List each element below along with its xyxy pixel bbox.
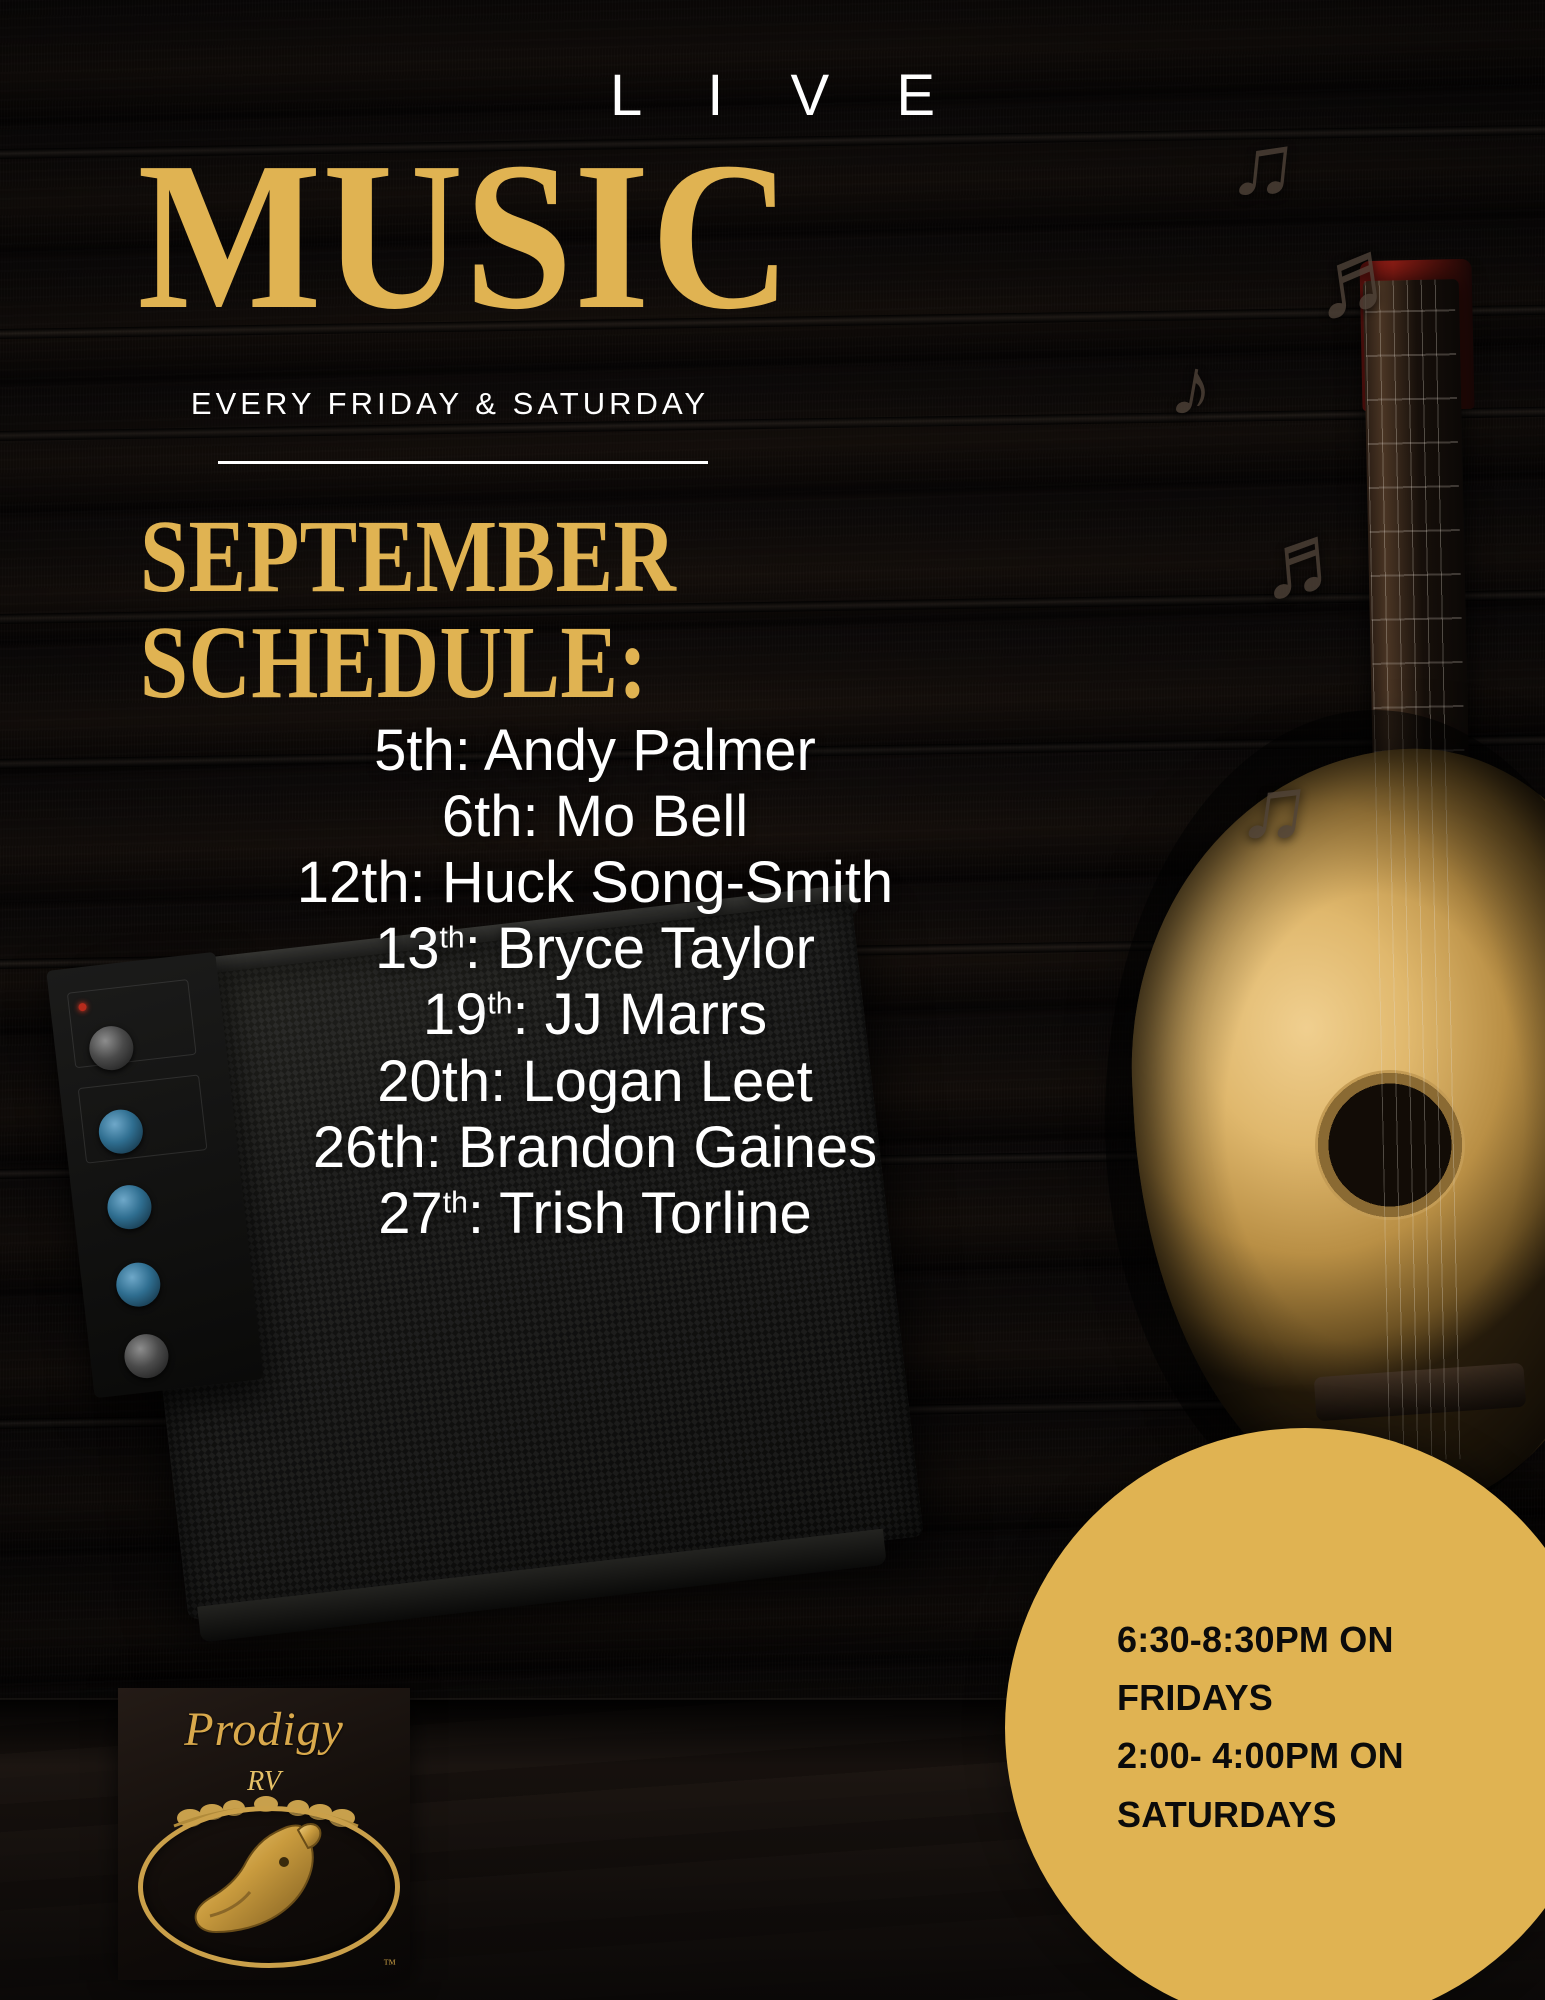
lineup-date: 27 [378, 1181, 443, 1246]
music-note-icon: ♬ [1254, 506, 1362, 614]
logo-oval-frame [138, 1806, 400, 1968]
schedule-heading: SEPTEMBER SCHEDULE: [140, 504, 676, 716]
lineup-date: 26th [313, 1115, 426, 1180]
schedule-heading-line1: SEPTEMBER [140, 504, 676, 610]
lineup-list: 5th: Andy Palmer6th: Mo Bell12th: Huck S… [0, 718, 1190, 1247]
times-line-1: 6:30-8:30PM ON [1117, 1611, 1537, 1669]
lineup-artist: Logan Leet [522, 1049, 812, 1114]
lineup-row: 20th: Logan Leet [0, 1049, 1190, 1115]
lineup-separator: : [490, 1049, 522, 1114]
lineup-date-ordinal: th [487, 988, 512, 1021]
music-note-icon: ♬ [1303, 218, 1420, 335]
music-note-icon: ♫ [1225, 117, 1302, 214]
lineup-date: 5th [374, 718, 455, 783]
lineup-date-ordinal: th [440, 922, 465, 955]
times-badge-text: 6:30-8:30PM ON FRIDAYS 2:00- 4:00PM ON S… [1107, 1611, 1537, 1844]
lineup-row: 6th: Mo Bell [0, 784, 1190, 850]
trademark-symbol: ™ [383, 1956, 396, 1972]
lineup-row: 26th: Brandon Gaines [0, 1115, 1190, 1181]
lineup-separator: : [455, 718, 484, 783]
lineup-artist: Huck Song-Smith [442, 850, 893, 915]
times-line-2: FRIDAYS [1117, 1669, 1537, 1727]
subtitle-days: EVERY FRIDAY & SATURDAY [0, 386, 900, 422]
lineup-separator: : [513, 982, 545, 1047]
lineup-artist: JJ Marrs [545, 982, 767, 1047]
lineup-date-ordinal: th [443, 1186, 468, 1219]
prodigy-wordmark: Prodigy [118, 1702, 410, 1757]
title-divider [218, 461, 708, 464]
lineup-row: 5th: Andy Palmer [0, 718, 1190, 784]
lineup-row: 13th: Bryce Taylor [0, 916, 1190, 982]
live-music-poster: ♫ ♬ ♪ ♬ ♫ L I V E MUSIC EVERY FRIDAY & S… [0, 0, 1545, 2000]
lineup-artist: Trish Torline [499, 1181, 812, 1246]
times-line-4: SATURDAYS [1117, 1786, 1537, 1844]
lineup-date: 13 [375, 916, 440, 981]
times-line-3: 2:00- 4:00PM ON [1117, 1727, 1537, 1785]
lineup-separator: : [465, 916, 497, 981]
lineup-artist: Mo Bell [555, 784, 748, 849]
lineup-date: 19 [423, 982, 488, 1047]
prodigy-logo: Prodigy RV [118, 1688, 410, 1980]
lineup-separator: : [468, 1181, 499, 1246]
lineup-row: 12th: Huck Song-Smith [0, 850, 1190, 916]
lineup-separator: : [523, 784, 555, 849]
lineup-artist: Bryce Taylor [497, 916, 815, 981]
lineup-date: 12th [297, 850, 410, 915]
lineup-row: 27th: Trish Torline [0, 1181, 1190, 1247]
lineup-separator: : [426, 1115, 458, 1180]
lineup-date: 6th [442, 784, 523, 849]
lineup-separator: : [410, 850, 442, 915]
lineup-row: 19th: JJ Marrs [0, 982, 1190, 1048]
lineup-artist: Andy Palmer [484, 718, 816, 783]
lineup-date: 20th [377, 1049, 490, 1114]
amp-knob [122, 1332, 171, 1381]
lineup-artist: Brandon Gaines [458, 1115, 877, 1180]
schedule-heading-line2: SCHEDULE: [140, 610, 676, 716]
amp-knob [114, 1260, 163, 1309]
music-note-icon: ♫ [1234, 756, 1317, 859]
page-title: MUSIC [37, 130, 893, 342]
